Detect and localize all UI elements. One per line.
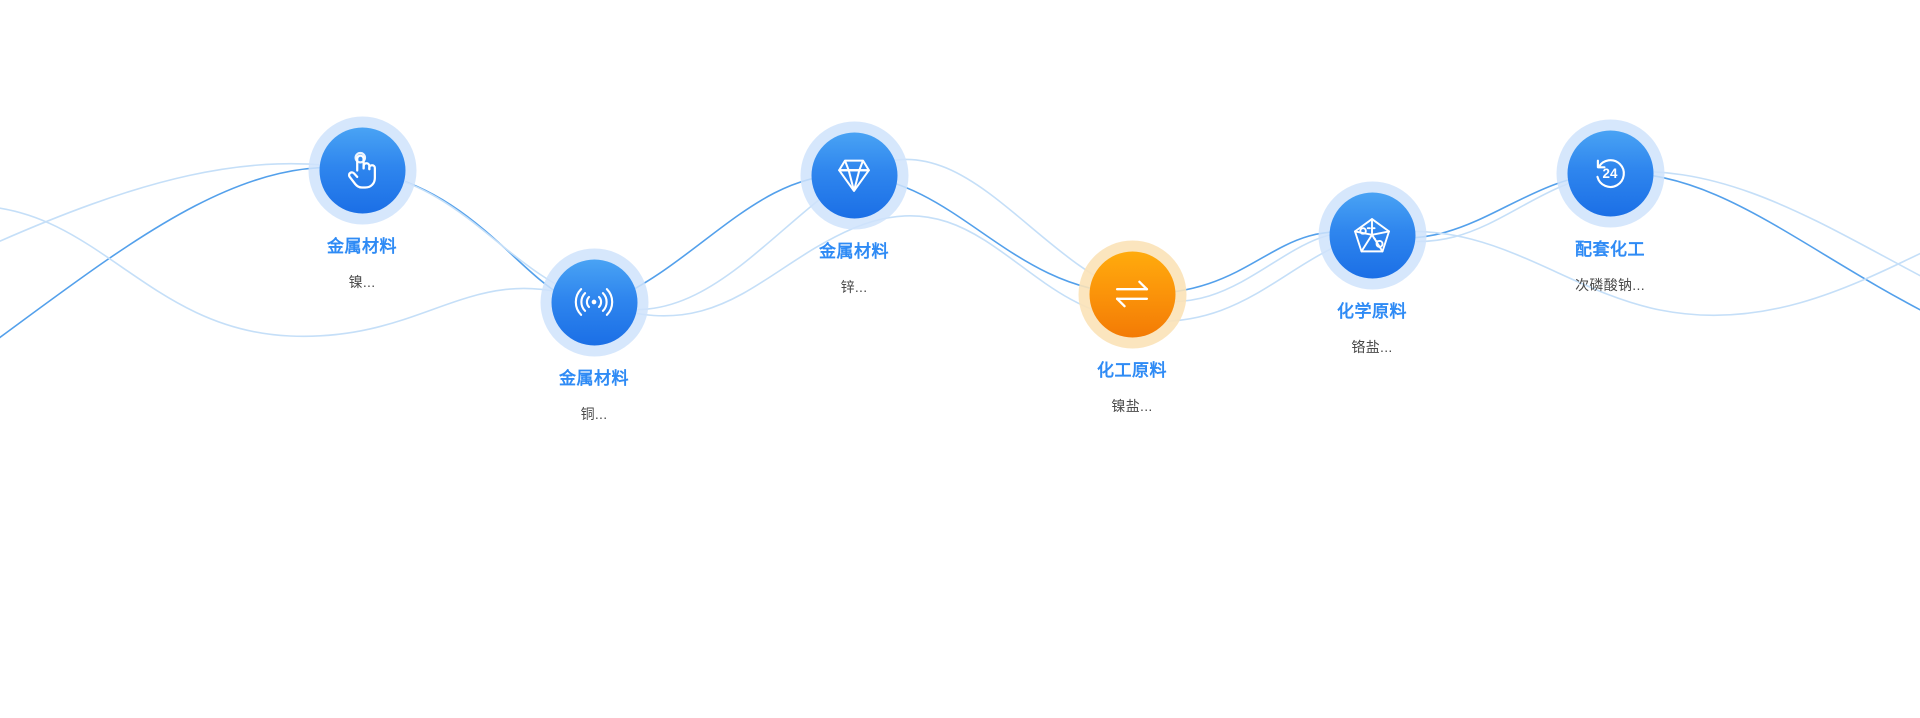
node-title: 金属材料 — [327, 238, 397, 255]
node-subtitle: 次磷酸钠... — [1575, 278, 1645, 292]
graph-node-6[interactable] — [1610, 173, 1611, 174]
node-label-2: 金属材料铜... — [559, 370, 629, 421]
node-label-4: 化工原料镍盐... — [1097, 362, 1167, 413]
node-title: 金属材料 — [559, 370, 629, 387]
node-disc[interactable] — [319, 127, 405, 213]
graph-node-1[interactable] — [362, 170, 363, 171]
node-title: 化学原料 — [1337, 303, 1407, 320]
graph-node-2[interactable] — [594, 302, 595, 303]
node-label-6: 配套化工次磷酸钠... — [1575, 241, 1645, 292]
node-label-1: 金属材料镍... — [327, 238, 397, 289]
diamond-icon — [829, 150, 880, 201]
diagram-canvas: 金属材料镍...金属材料铜...金属材料锌...化工原料镍盐...化学原料铬盐.… — [0, 0, 1920, 718]
node-subtitle: 镍盐... — [1097, 399, 1167, 413]
node-subtitle: 铜... — [559, 407, 629, 421]
24-hour-service-icon — [1585, 148, 1636, 199]
click-hand-icon — [337, 145, 388, 196]
exchange-arrows-icon — [1107, 269, 1158, 320]
node-disc[interactable] — [1329, 192, 1415, 278]
graph-node-3[interactable] — [854, 175, 855, 176]
node-title: 金属材料 — [819, 243, 889, 260]
node-disc[interactable] — [551, 259, 637, 345]
node-subtitle: 锌... — [819, 280, 889, 294]
node-title: 化工原料 — [1097, 362, 1167, 379]
node-disc[interactable] — [811, 132, 897, 218]
graph-node-4[interactable] — [1132, 294, 1133, 295]
node-label-5: 化学原料铬盐... — [1337, 303, 1407, 354]
node-label-3: 金属材料锌... — [819, 243, 889, 294]
node-subtitle: 镍... — [327, 275, 397, 289]
background-curves — [0, 0, 1920, 718]
molecule-pentagon-icon — [1347, 210, 1398, 261]
node-title: 配套化工 — [1575, 241, 1645, 258]
graph-node-5[interactable] — [1372, 235, 1373, 236]
node-disc[interactable] — [1567, 130, 1653, 216]
node-disc[interactable] — [1089, 251, 1175, 337]
node-subtitle: 铬盐... — [1337, 340, 1407, 354]
signal-radar-icon — [569, 277, 620, 328]
